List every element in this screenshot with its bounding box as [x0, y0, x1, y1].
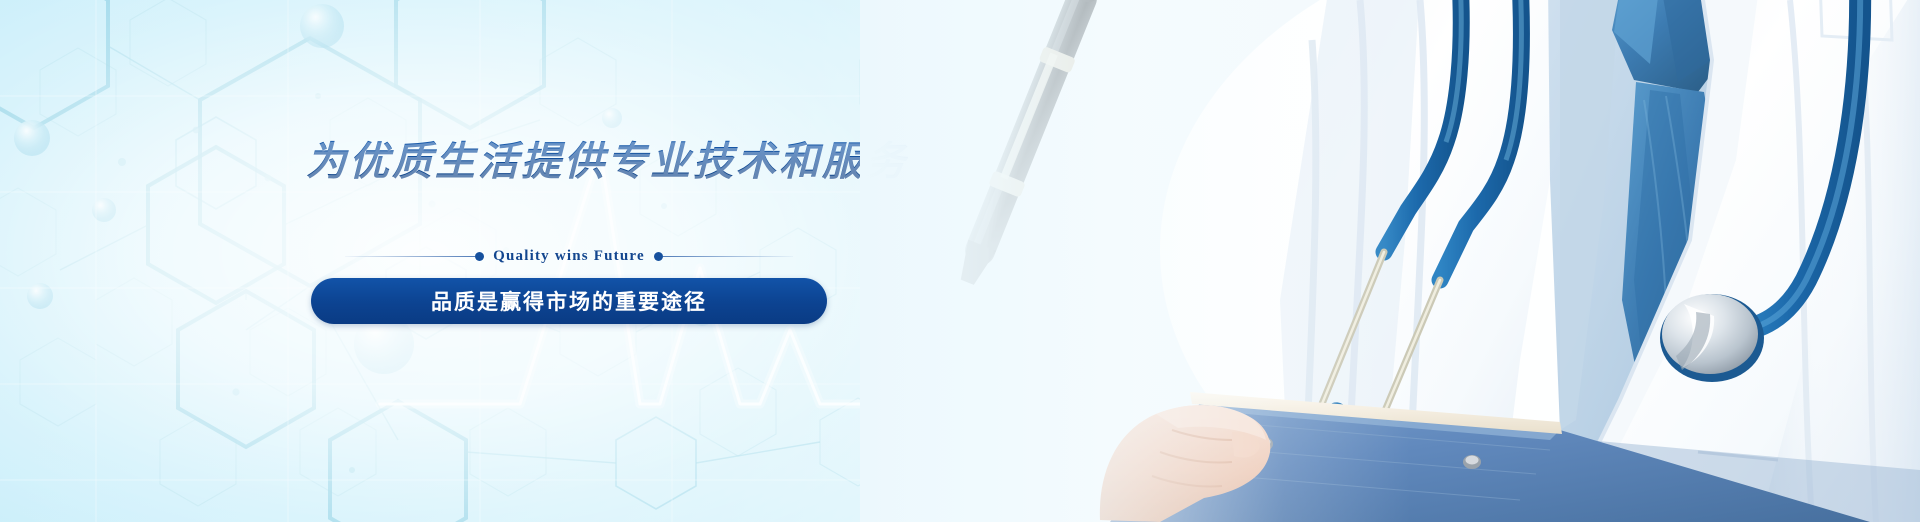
cta-button-label: 品质是赢得市场的重要途径 — [431, 286, 707, 316]
subtitle-rule-left — [345, 256, 475, 257]
photo-fade-overlay — [860, 0, 1920, 522]
banner-subtitle-english: Quality wins Future — [484, 248, 654, 265]
cta-button[interactable]: 品质是赢得市场的重要途径 — [311, 278, 827, 324]
hero-banner: 为优质生活提供专业技术和服务 Quality wins Future 品质是赢得… — [0, 0, 1920, 522]
subtitle-row: Quality wins Future — [345, 248, 793, 265]
banner-headline: 为优质生活提供专业技术和服务 — [306, 129, 908, 187]
doctor-photo — [860, 0, 1920, 522]
subtitle-dot-left — [475, 252, 484, 261]
subtitle-rule-right — [663, 256, 793, 257]
banner-text-block: 为优质生活提供专业技术和服务 Quality wins Future 品质是赢得… — [0, 0, 900, 522]
subtitle-dot-right — [654, 252, 663, 261]
